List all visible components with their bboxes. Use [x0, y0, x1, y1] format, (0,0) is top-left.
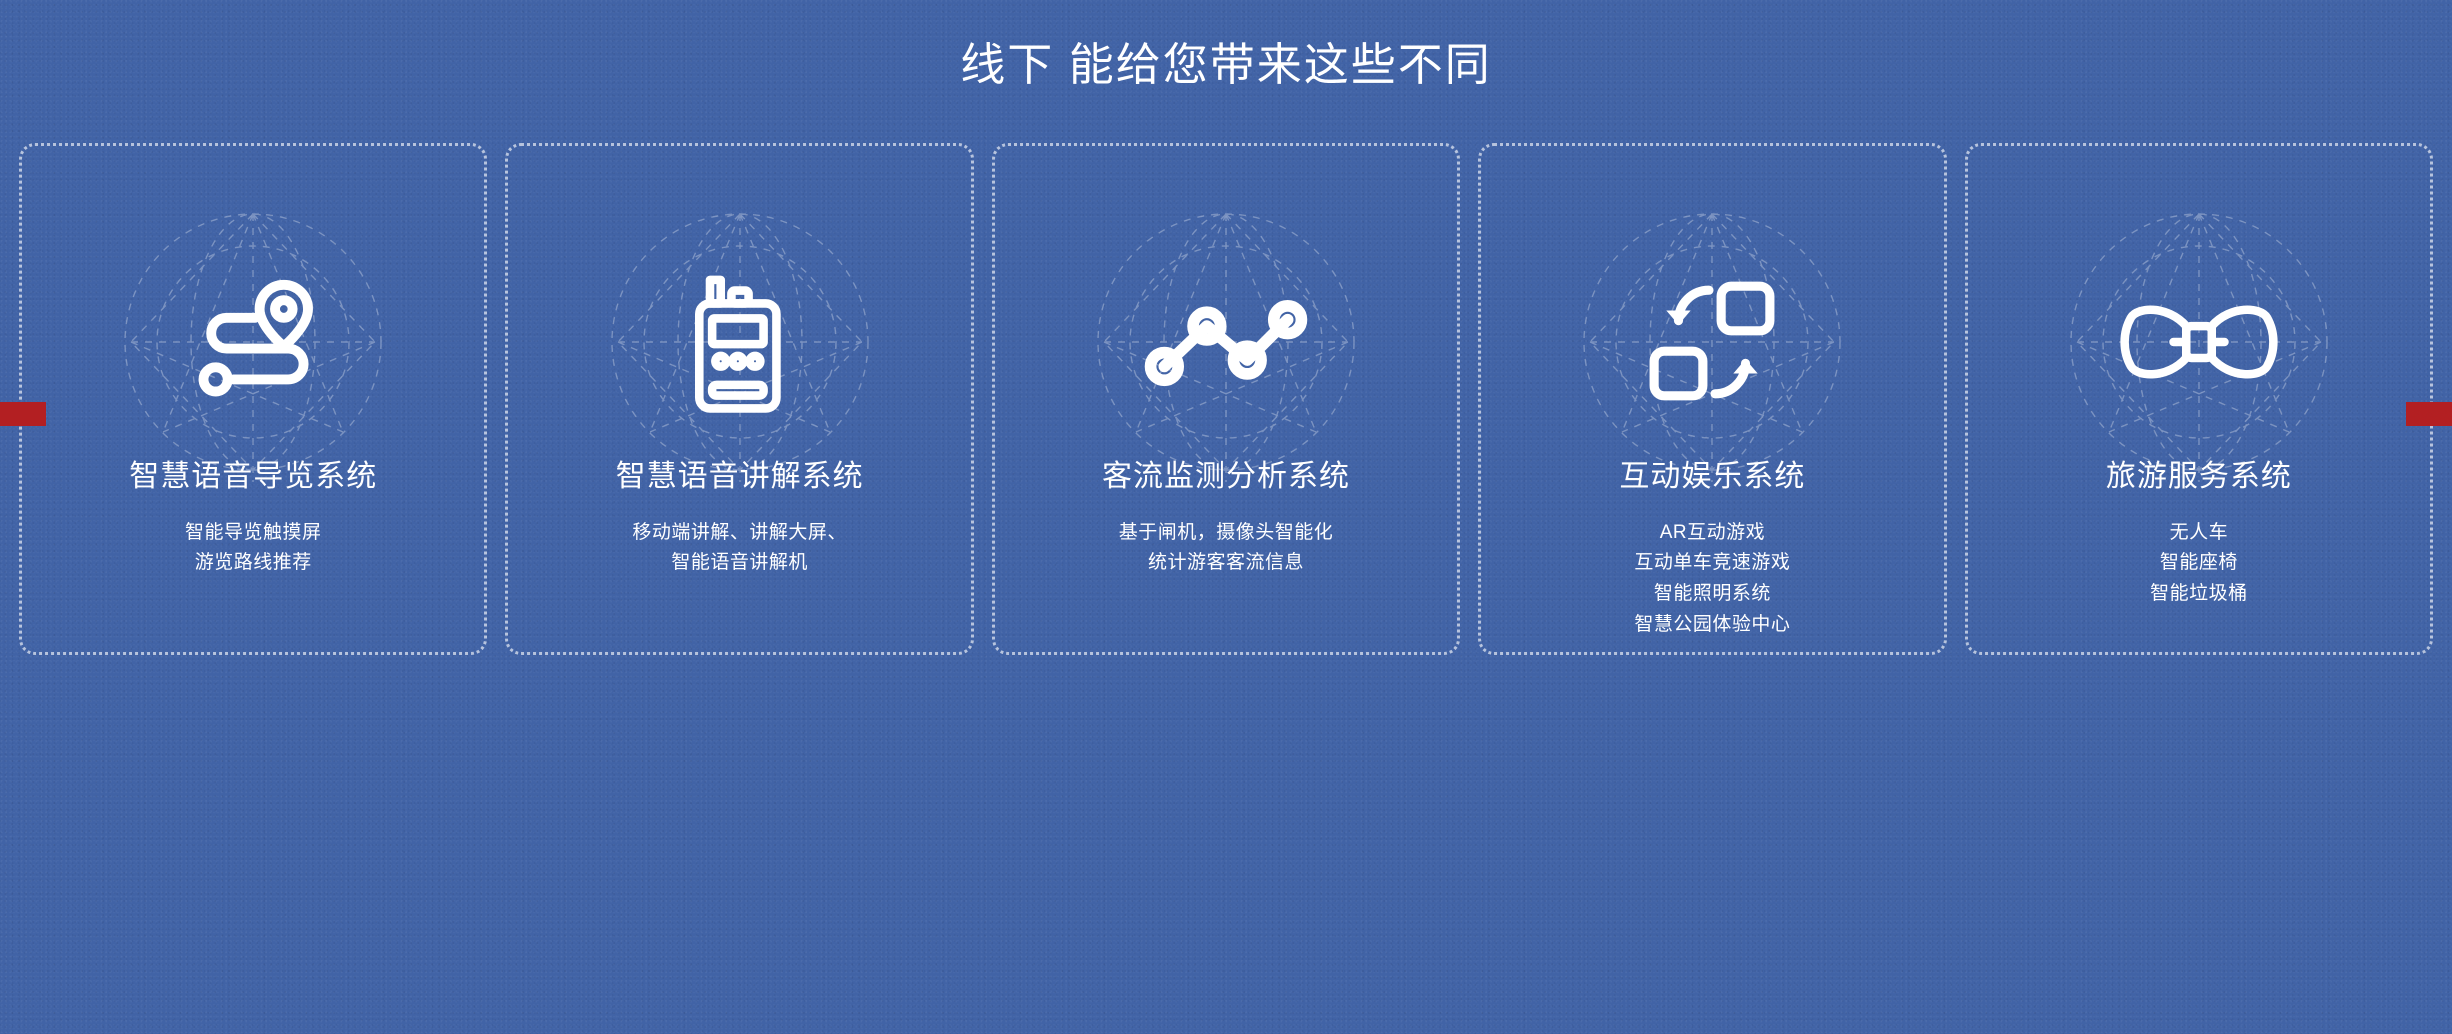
- card-title: 互动娱乐系统: [1493, 458, 1931, 496]
- feature-card-3[interactable]: 客流监测分析系统基于闸机，摄像头智能化统计游客客流信息: [992, 143, 1460, 655]
- card-description-line: 智能照明系统: [1493, 579, 1931, 610]
- card-description-line: 无人车: [1980, 518, 2418, 549]
- feature-card-1[interactable]: 智慧语音导览系统智能导览触摸屏游览路线推荐: [19, 143, 487, 655]
- card-description-line: 互动单车竞速游戏: [1493, 548, 1931, 579]
- page-title: 线下 能给您带来这些不同: [0, 36, 2452, 95]
- card-description-line: 智能座椅: [1980, 548, 2418, 579]
- card-description-line: AR互动游戏: [1493, 518, 1931, 549]
- card-text-block: 互动娱乐系统AR互动游戏互动单车竞速游戏智能照明系统智慧公园体验中心: [1481, 458, 1943, 641]
- bow-tie-icon: [2049, 192, 2349, 492]
- card-title: 智慧语音讲解系统: [520, 458, 958, 496]
- accent-bar-left: [0, 402, 46, 426]
- feature-card-list: 智慧语音导览系统智能导览触摸屏游览路线推荐 智慧语音讲解系统移动端讲解、讲解大屏…: [19, 143, 2433, 655]
- card-description-line: 移动端讲解、讲解大屏、: [520, 518, 958, 549]
- card-description-list: 移动端讲解、讲解大屏、智能语音讲解机: [520, 518, 958, 580]
- exchange-arrows-icon: [1562, 192, 1862, 492]
- card-text-block: 客流监测分析系统基于闸机，摄像头智能化统计游客客流信息: [995, 458, 1457, 579]
- card-title: 客流监测分析系统: [1007, 458, 1445, 496]
- card-title: 智慧语音导览系统: [34, 458, 472, 496]
- card-description-line: 统计游客客流信息: [1007, 548, 1445, 579]
- card-text-block: 智慧语音讲解系统移动端讲解、讲解大屏、智能语音讲解机: [508, 458, 970, 579]
- line-chart-nodes-icon: [1076, 192, 1376, 492]
- accent-bar-right: [2406, 402, 2452, 426]
- card-description-list: 基于闸机，摄像头智能化统计游客客流信息: [1007, 518, 1445, 580]
- route-pin-icon: [103, 192, 403, 492]
- walkie-talkie-icon: [590, 192, 890, 492]
- card-title: 旅游服务系统: [1980, 458, 2418, 496]
- feature-card-2[interactable]: 智慧语音讲解系统移动端讲解、讲解大屏、智能语音讲解机: [505, 143, 973, 655]
- feature-card-4[interactable]: 互动娱乐系统AR互动游戏互动单车竞速游戏智能照明系统智慧公园体验中心: [1478, 143, 1946, 655]
- card-description-line: 智慧公园体验中心: [1493, 610, 1931, 641]
- card-description-line: 智能垃圾桶: [1980, 579, 2418, 610]
- card-description-list: 无人车智能座椅智能垃圾桶: [1980, 518, 2418, 610]
- feature-card-5[interactable]: 旅游服务系统无人车智能座椅智能垃圾桶: [1965, 143, 2433, 655]
- card-text-block: 智慧语音导览系统智能导览触摸屏游览路线推荐: [22, 458, 484, 579]
- card-description-line: 基于闸机，摄像头智能化: [1007, 518, 1445, 549]
- card-description-list: AR互动游戏互动单车竞速游戏智能照明系统智慧公园体验中心: [1493, 518, 1931, 641]
- card-description-line: 智能导览触摸屏: [34, 518, 472, 549]
- card-text-block: 旅游服务系统无人车智能座椅智能垃圾桶: [1968, 458, 2430, 610]
- card-description-line: 智能语音讲解机: [520, 548, 958, 579]
- card-description-line: 游览路线推荐: [34, 548, 472, 579]
- card-description-list: 智能导览触摸屏游览路线推荐: [34, 518, 472, 580]
